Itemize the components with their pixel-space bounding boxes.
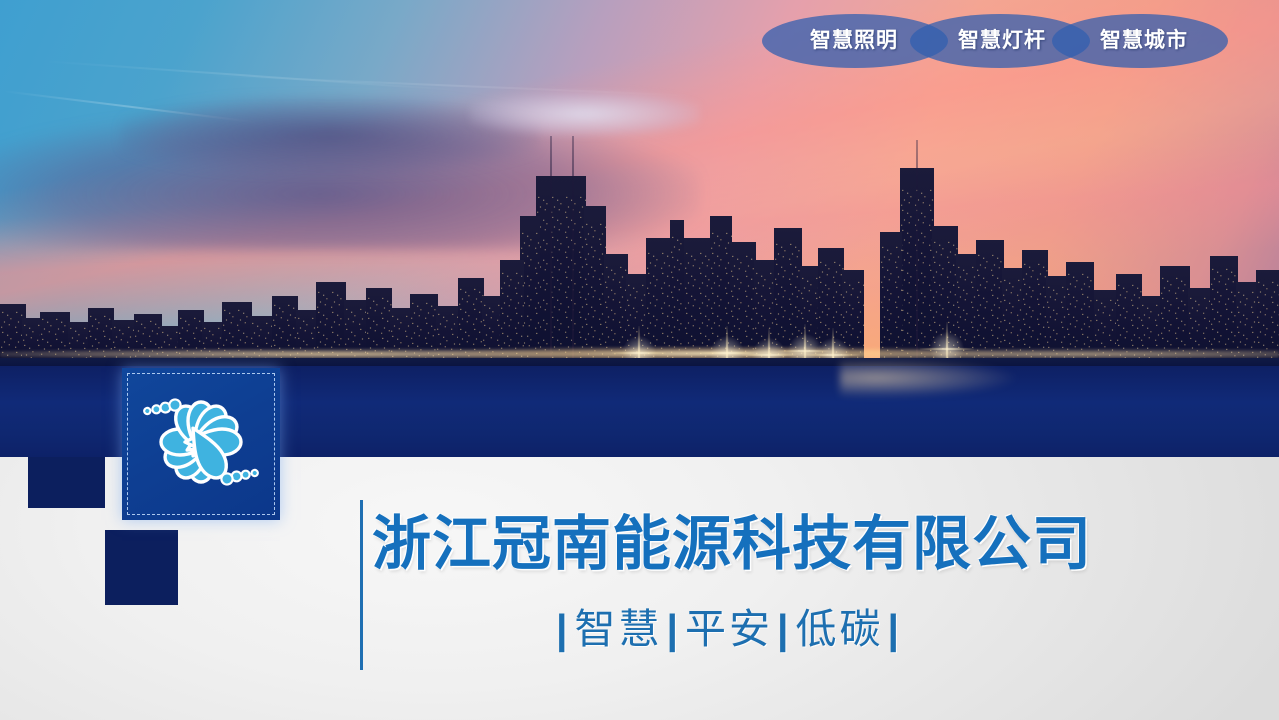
subtitle-bar: | — [662, 606, 684, 652]
title-slide: 智慧照明 智慧灯杆 智慧城市 — [0, 0, 1279, 720]
title-accent-rule — [360, 500, 363, 670]
tagline-badge-group: 智慧照明 智慧灯杆 智慧城市 — [762, 14, 1228, 68]
subtitle-bar: | — [773, 606, 795, 652]
subtitle-keyword-safety: 平安 — [685, 606, 773, 652]
company-logo[interactable] — [122, 368, 280, 520]
subtitle-keyword-lowcarbon: 低碳 — [795, 606, 883, 652]
subtitle-bar: | — [883, 606, 905, 652]
decor-navy-block-small — [105, 530, 178, 605]
subtitle-keywords: |智慧|平安|低碳| — [552, 595, 906, 655]
logo-dashed-border — [127, 373, 275, 515]
badge-label-smart-pole: 智慧灯杆 — [958, 27, 1046, 55]
subtitle-keyword-wisdom: 智慧 — [574, 606, 662, 652]
city-silhouette — [0, 136, 1279, 366]
badge-label-smart-city: 智慧城市 — [1100, 27, 1188, 55]
light-cloud — [470, 92, 700, 136]
lake-water — [0, 358, 1279, 366]
badge-label-smart-lighting: 智慧照明 — [810, 27, 898, 55]
subtitle-bar: | — [552, 606, 574, 652]
page-title: 浙江冠南能源科技有限公司 — [372, 496, 1092, 581]
decor-navy-block-left — [28, 457, 105, 508]
